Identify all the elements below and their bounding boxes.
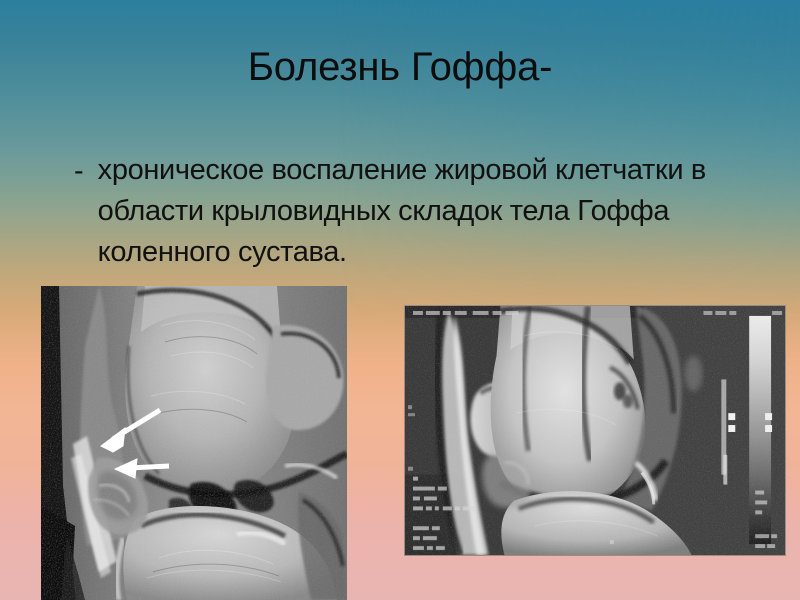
- bullet-marker: -: [74, 150, 84, 192]
- bullet-text: хроническое воспаление жировой клетчатки…: [98, 150, 770, 273]
- slide-canvas: Болезнь Гоффа- - хроническое воспаление …: [0, 0, 800, 600]
- bullet-paragraph: - хроническое воспаление жировой клетчат…: [74, 150, 786, 273]
- sagittal-knee-mri-left: [41, 286, 347, 600]
- page-title: Болезнь Гоффа-: [0, 44, 800, 90]
- mri-right-render: [405, 306, 785, 555]
- sagittal-knee-mri-right: [404, 305, 786, 556]
- mri-left-render: [41, 286, 347, 600]
